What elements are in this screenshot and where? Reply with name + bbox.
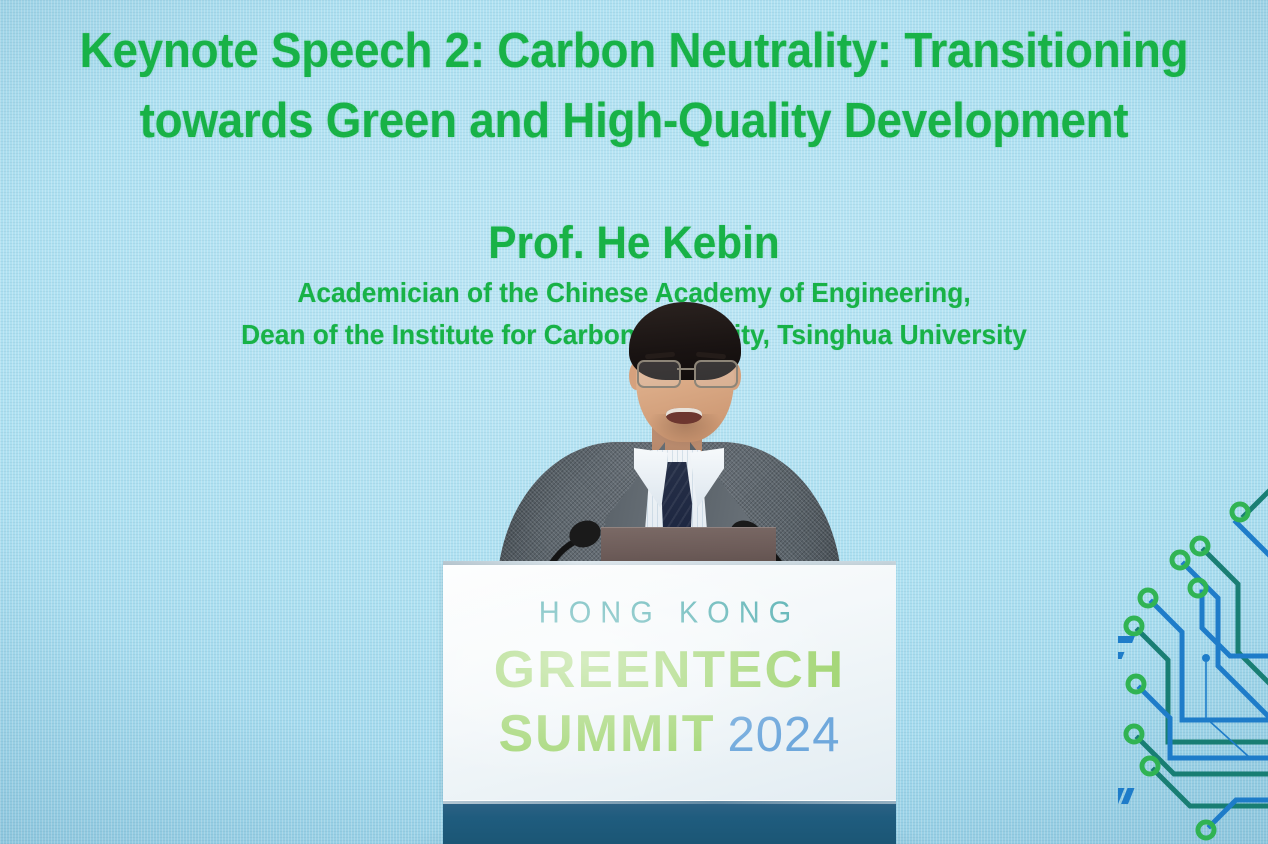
logo-bottom-line: SUMMIT2024 bbox=[443, 702, 896, 779]
slide-text-block: Keynote Speech 2: Carbon Neutrality: Tra… bbox=[0, 16, 1268, 356]
podium-front-panel: HONG KONG GREENTECH SUMMIT2024 bbox=[443, 565, 896, 801]
logo-city-text: HONG KONG bbox=[443, 596, 896, 631]
slide-speaker-name: Prof. He Kebin bbox=[38, 214, 1230, 272]
logo-summit-text: SUMMIT bbox=[498, 705, 715, 763]
speaker-mouth bbox=[666, 408, 702, 424]
eyeglass-lens-left bbox=[637, 360, 681, 388]
event-logo: HONG KONG GREENTECH SUMMIT2024 bbox=[443, 597, 896, 779]
logo-event-text: GREENTECH bbox=[438, 638, 900, 702]
eyeglass-bridge bbox=[677, 368, 695, 370]
slide-title-line-1: Keynote Speech 2: Carbon Neutrality: Tra… bbox=[41, 16, 1227, 86]
podium-lectern: HONG KONG GREENTECH SUMMIT2024 bbox=[443, 565, 896, 844]
slide-credential-line-1: Academician of the Chinese Academy of En… bbox=[38, 272, 1230, 314]
eyeglasses-icon bbox=[634, 360, 738, 386]
logo-year-text: 2024 bbox=[728, 708, 841, 762]
eyeglass-lens-right bbox=[694, 360, 738, 388]
podium-base bbox=[443, 801, 896, 844]
slide-title-line-2: towards Green and High-Quality Developme… bbox=[41, 86, 1227, 156]
conference-stage-photo: Keynote Speech 2: Carbon Neutrality: Tra… bbox=[0, 0, 1268, 844]
